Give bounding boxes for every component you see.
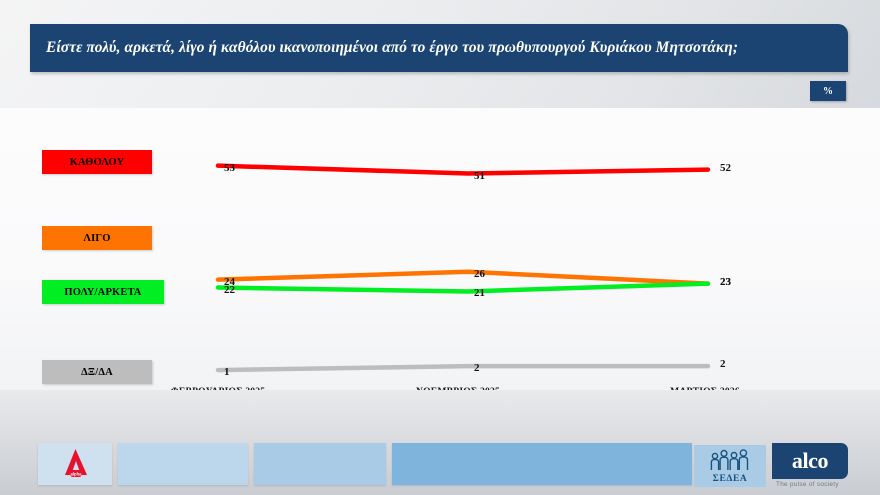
data-label-s3-p2: 2 bbox=[720, 358, 726, 370]
series-line-3 bbox=[218, 366, 708, 370]
alco-logo: alco bbox=[772, 443, 848, 479]
data-label-s2-p2: 23 bbox=[720, 276, 731, 288]
page-title: Είστε πολύ, αρκετά, λίγο ή καθόλου ικανο… bbox=[30, 39, 738, 57]
plot-area: 535152242623222123122 bbox=[150, 108, 880, 390]
question-title-bar: Είστε πολύ, αρκετά, λίγο ή καθόλου ικανο… bbox=[30, 24, 848, 72]
sedea-people-icon bbox=[707, 449, 753, 473]
svg-text:alpha: alpha bbox=[71, 472, 83, 477]
legend-item-ligo[interactable]: ΛΙΓΟ bbox=[42, 226, 152, 250]
data-label-s2-p1: 21 bbox=[474, 287, 485, 299]
alpha-tv-logo-icon: alpha bbox=[62, 448, 90, 480]
data-label-s1-p1: 26 bbox=[474, 268, 485, 280]
percent-badge: % bbox=[810, 81, 846, 101]
line-chart-svg bbox=[150, 108, 880, 390]
data-label-s0-p2: 52 bbox=[720, 162, 731, 174]
legend-item-poly-arketa[interactable]: ΠΟΛΥ/ΑΡΚΕΤΑ bbox=[42, 280, 164, 304]
series-line-0 bbox=[218, 166, 708, 174]
data-label-s3-p0: 1 bbox=[224, 366, 230, 378]
footer-segment-2 bbox=[118, 443, 248, 485]
alco-tagline: The pulse of society bbox=[776, 481, 839, 488]
footer-segment-4 bbox=[392, 443, 692, 485]
alco-wordmark: alco bbox=[792, 450, 828, 472]
series-line-2 bbox=[218, 284, 708, 292]
series-line-1 bbox=[218, 272, 708, 284]
sedea-logo: ΣΕΔΕΑ bbox=[694, 445, 766, 487]
legend-item-katholou[interactable]: ΚΑΘΟΛΟΥ bbox=[42, 150, 152, 174]
sedea-label: ΣΕΔΕΑ bbox=[713, 474, 748, 484]
footer-segment-3 bbox=[254, 443, 386, 485]
legend-item-dx-da[interactable]: ΔΞ/ΔΑ bbox=[42, 360, 152, 384]
chart-panel: ΚΑΘΟΛΟΥ ΛΙΓΟ ΠΟΛΥ/ΑΡΚΕΤΑ ΔΞ/ΔΑ 535152242… bbox=[0, 108, 880, 390]
data-label-s2-p0: 22 bbox=[224, 284, 235, 296]
data-label-s3-p1: 2 bbox=[474, 362, 480, 374]
data-label-s0-p0: 53 bbox=[224, 162, 235, 174]
data-label-s0-p1: 51 bbox=[474, 170, 485, 182]
